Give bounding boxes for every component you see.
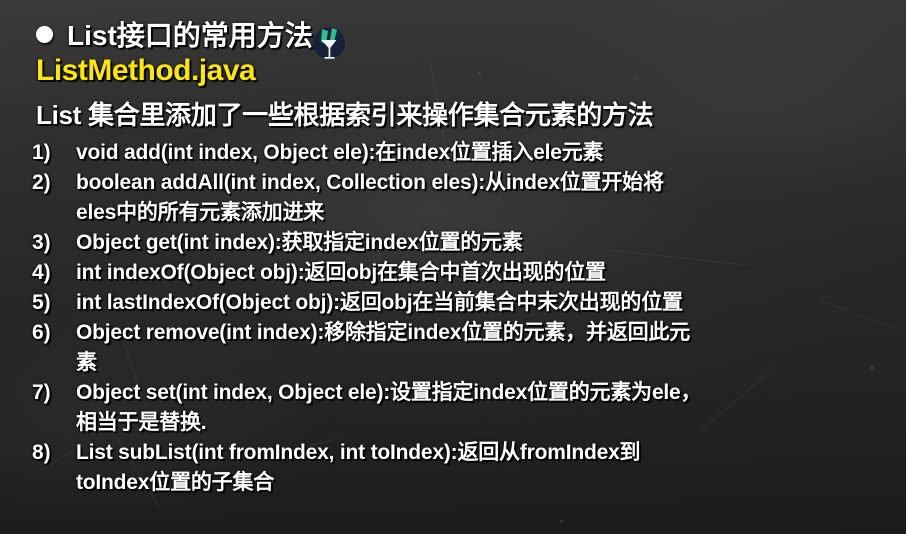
list-item-number: 1) [32,138,76,168]
list-item: 8)List subList(int fromIndex, int toInde… [32,438,902,498]
list-item-number: 8) [32,438,76,468]
list-item-line: boolean addAll(int index, Collection ele… [76,168,902,198]
list-item-line: 素 [76,348,902,378]
list-item-body: Object get(int index):获取指定index位置的元素 [76,228,902,258]
slide-canvas: List接口的常用方法 ListMethod.java List 集合里添加了一… [0,0,906,534]
list-item-line: Object remove(int index):移除指定index位置的元素，… [76,318,902,348]
list-item-body: Object remove(int index):移除指定index位置的元素，… [76,318,902,378]
list-item-body: Object set(int index, Object ele):设置指定in… [76,378,902,438]
list-item: 4)int indexOf(Object obj):返回obj在集合中首次出现的… [32,258,902,288]
page-title: List接口的常用方法 [67,14,313,54]
list-item-number: 5) [32,288,76,318]
list-item-body: int indexOf(Object obj):返回obj在集合中首次出现的位置 [76,258,902,288]
list-item-line: Object set(int index, Object ele):设置指定in… [76,378,902,408]
list-item: 3)Object get(int index):获取指定index位置的元素 [32,228,902,258]
list-item-number: 7) [32,378,76,408]
list-item: 7)Object set(int index, Object ele):设置指定… [32,378,902,438]
source-file-name: ListMethod.java [36,54,255,88]
list-item: 5)int lastIndexOf(Object obj):返回obj在当前集合… [32,288,902,318]
list-item-line: toIndex位置的子集合 [76,468,902,498]
list-item: 2)boolean addAll(int index, Collection e… [32,168,902,228]
slide-subtitle: List 集合里添加了一些根据索引来操作集合元素的方法 [36,95,653,132]
method-list: 1)void add(int index, Object ele):在index… [32,138,902,498]
list-item-line: List subList(int fromIndex, int toIndex)… [76,438,902,468]
slide-title-row: List接口的常用方法 [36,14,313,54]
list-item-body: List subList(int fromIndex, int toIndex)… [76,438,902,498]
list-item-line: eles中的所有元素添加进来 [76,198,902,228]
list-item-line: void add(int index, Object ele):在index位置… [76,138,902,168]
list-item-body: int lastIndexOf(Object obj):返回obj在当前集合中末… [76,288,902,318]
list-item-line: int indexOf(Object obj):返回obj在集合中首次出现的位置 [76,258,902,288]
list-item-line: Object get(int index):获取指定index位置的元素 [76,228,902,258]
bullet-circle-icon [36,26,53,43]
list-item: 1)void add(int index, Object ele):在index… [32,138,902,168]
list-item: 6)Object remove(int index):移除指定index位置的元… [32,318,902,378]
list-item-number: 3) [32,228,76,258]
list-item-line: int lastIndexOf(Object obj):返回obj在当前集合中末… [76,288,902,318]
list-item-body: void add(int index, Object ele):在index位置… [76,138,902,168]
list-item-number: 6) [32,318,76,348]
list-item-line: 相当于是替换. [76,408,902,438]
list-item-number: 2) [32,168,76,198]
list-item-number: 4) [32,258,76,288]
list-item-body: boolean addAll(int index, Collection ele… [76,168,902,228]
